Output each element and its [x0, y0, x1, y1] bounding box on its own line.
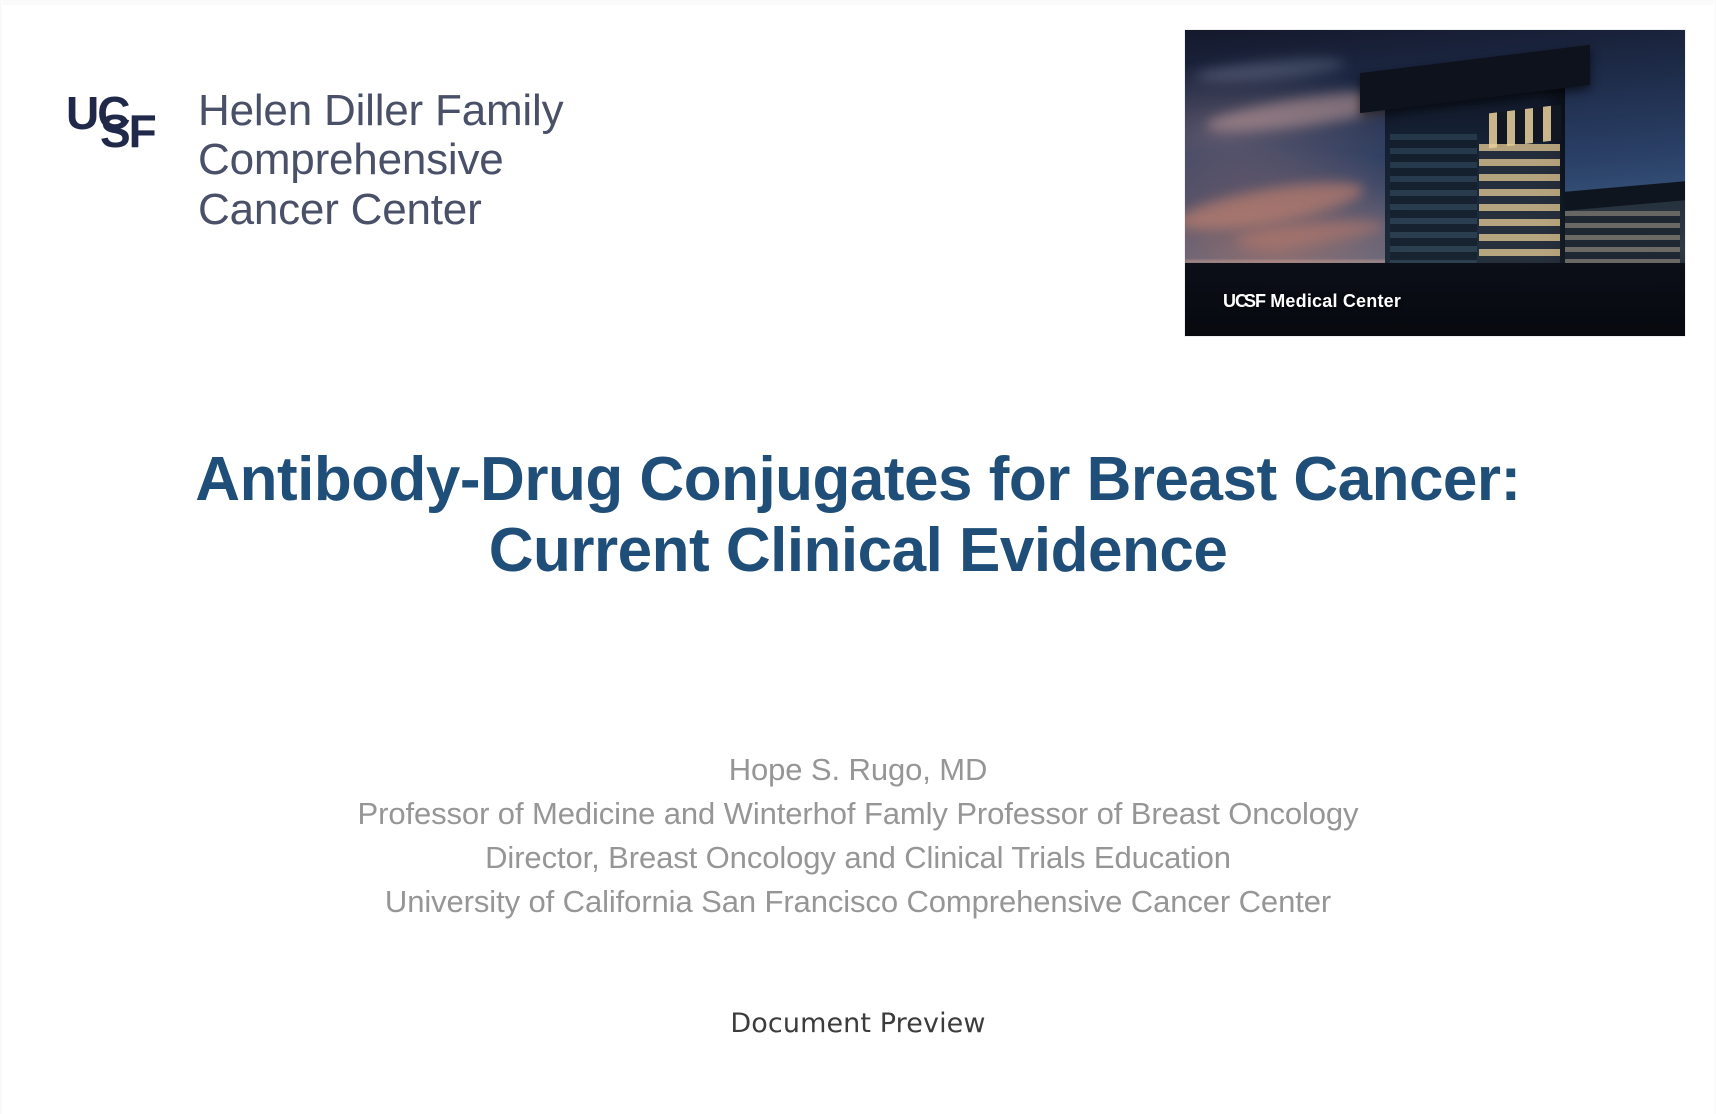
presenter-name: Hope S. Rugo, MD	[0, 748, 1716, 792]
presenter-role-secondary: Director, Breast Oncology and Clinical T…	[0, 836, 1716, 880]
logo-line-1: Helen Diller Family	[198, 86, 563, 135]
title-line-2: Current Clinical Evidence	[0, 515, 1716, 587]
ucsf-wordmark-icon: UC SF	[66, 90, 188, 152]
logo-line-2: Comprehensive	[198, 135, 563, 184]
ucsf-logo: UC SF Helen Diller Family Comprehensive …	[66, 86, 563, 234]
ucsf-medical-center-photo: UCSF Medical Center	[1185, 30, 1685, 336]
photo-caption: UCSF Medical Center	[1223, 291, 1401, 312]
photo-tower-upper-windows	[1489, 105, 1561, 149]
title-line-1: Antibody-Drug Conjugates for Breast Canc…	[0, 444, 1716, 516]
presenter-block: Hope S. Rugo, MD Professor of Medicine a…	[0, 748, 1716, 924]
presenter-affiliation: University of California San Francisco C…	[0, 880, 1716, 924]
document-preview-label: Document Preview	[0, 1008, 1716, 1039]
logo-line-3: Cancer Center	[198, 185, 563, 234]
presenter-role-primary: Professor of Medicine and Winterhof Faml…	[0, 792, 1716, 836]
top-edge-shade	[0, 0, 1716, 5]
page-title: Antibody-Drug Conjugates for Breast Canc…	[0, 444, 1716, 588]
ucsf-mark-sf: SF	[100, 108, 155, 154]
photo-caption-sf: SF	[1244, 291, 1265, 311]
photo-caption-rest: Medical Center	[1265, 291, 1401, 311]
logo-wordmark-text: Helen Diller Family Comprehensive Cancer…	[198, 86, 563, 234]
presentation-slide: UC SF Helen Diller Family Comprehensive …	[0, 0, 1716, 1114]
